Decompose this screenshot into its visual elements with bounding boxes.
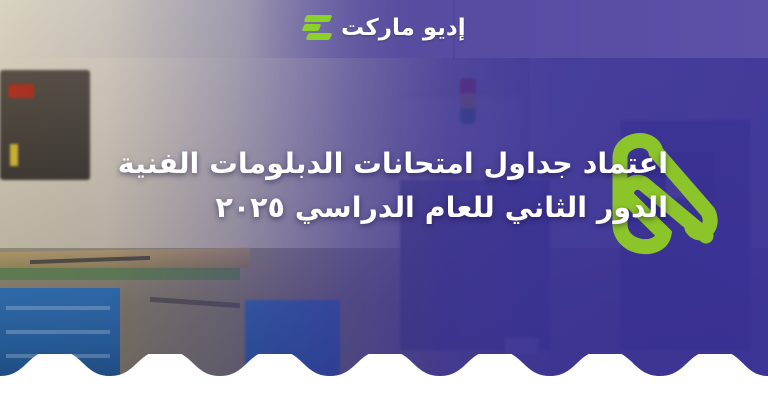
wave-bottom-edge xyxy=(0,354,768,402)
headline-line-1: اعتماد جداول امتحانات الدبلومات الفنية xyxy=(58,142,668,186)
edu-market-e-mark-icon xyxy=(303,14,333,42)
brand-logo-text: إديو ماركت xyxy=(341,17,466,40)
headline: اعتماد جداول امتحانات الدبلومات الفنية ا… xyxy=(58,142,668,230)
headline-line-2: الدور الثاني للعام الدراسي ٢٠٢٥ xyxy=(58,186,668,230)
promo-banner: إديو ماركت اعتماد جداول امتحانات الدبلوم… xyxy=(0,0,768,402)
brand-logo[interactable]: إديو ماركت xyxy=(303,8,468,48)
